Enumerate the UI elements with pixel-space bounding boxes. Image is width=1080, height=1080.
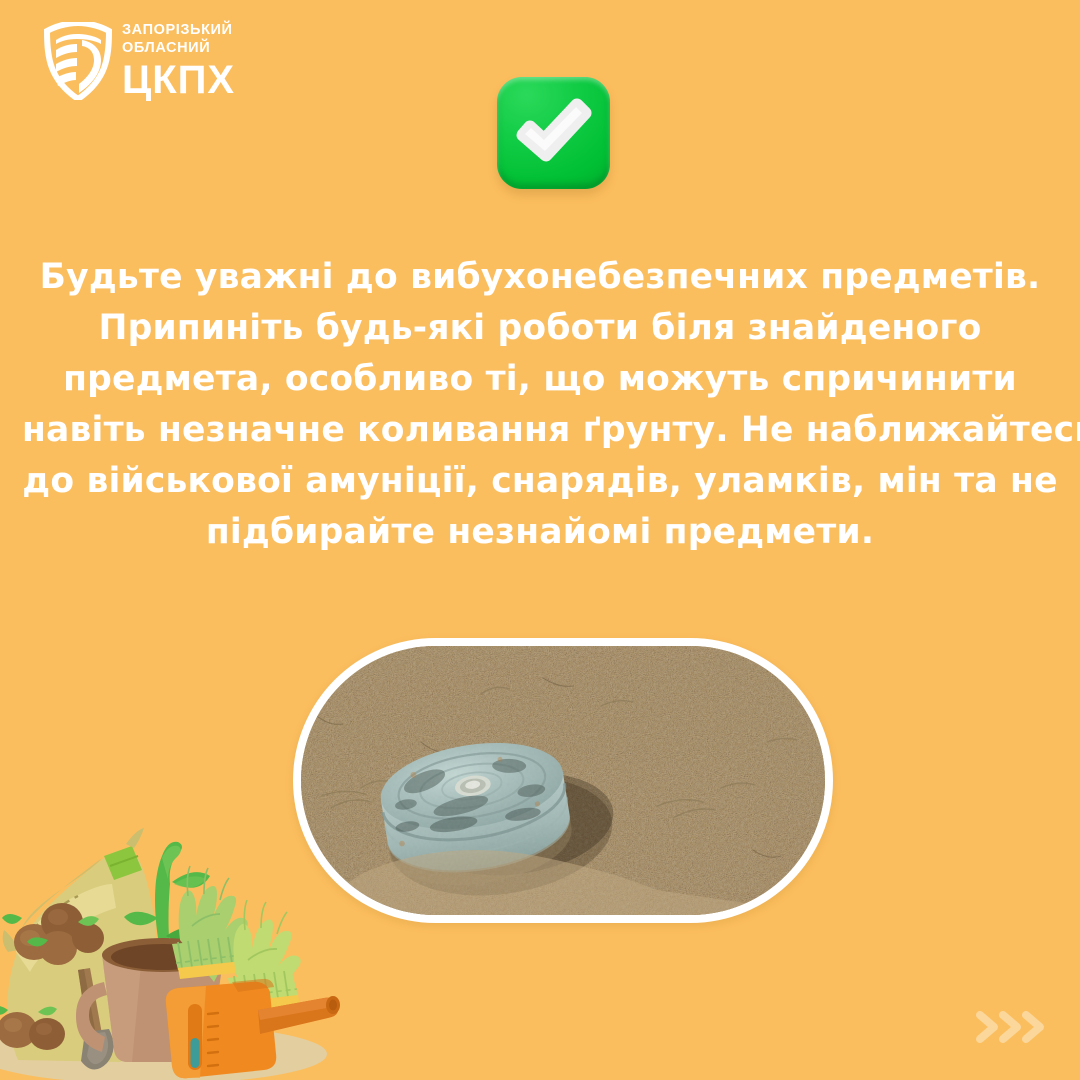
headline-line: до військової амуніції, снарядів, уламкі… bbox=[22, 456, 1058, 507]
headline-line: Припиніть будь-які роботи біля знайденог… bbox=[22, 303, 1058, 354]
headline-line: навіть незначне коливання ґрунту. Не наб… bbox=[22, 405, 1058, 456]
status-badge bbox=[497, 77, 610, 189]
gardening-illustration bbox=[0, 822, 344, 1080]
headline-line: Будьте уважні до вибухонебезпечних предм… bbox=[22, 252, 1058, 303]
next-chevrons-icon[interactable] bbox=[974, 1008, 1046, 1046]
headline-line: підбирайте незнайомі предмети. bbox=[22, 507, 1058, 558]
checkmark-badge bbox=[497, 77, 610, 189]
page-title: Будьте уважні до вибухонебезпечних предм… bbox=[0, 252, 1080, 558]
logo-line-2: ОБЛАСНИЙ bbox=[122, 40, 235, 58]
headline-line: предмета, особливо ті, що можуть спричин… bbox=[22, 354, 1058, 405]
infographic-canvas: ЗАПОРІЗЬКИЙ ОБЛАСНИЙ ЦКПХ Будьте уважні … bbox=[0, 0, 1080, 1080]
logo[interactable]: ЗАПОРІЗЬКИЙ ОБЛАСНИЙ ЦКПХ bbox=[44, 22, 235, 100]
logo-wordmark: ЗАПОРІЗЬКИЙ ОБЛАСНИЙ ЦКПХ bbox=[122, 22, 235, 100]
chevron-right-icon bbox=[980, 1015, 994, 1039]
logo-line-1: ЗАПОРІЗЬКИЙ bbox=[122, 22, 235, 40]
checkmark-icon bbox=[523, 105, 585, 155]
photo-frame bbox=[293, 638, 833, 923]
chevron-right-icon bbox=[1003, 1015, 1017, 1039]
shield-icon bbox=[44, 22, 112, 100]
chevron-right-icon bbox=[1026, 1015, 1040, 1039]
landmine-photo bbox=[301, 646, 825, 915]
logo-acronym: ЦКПХ bbox=[122, 60, 235, 100]
